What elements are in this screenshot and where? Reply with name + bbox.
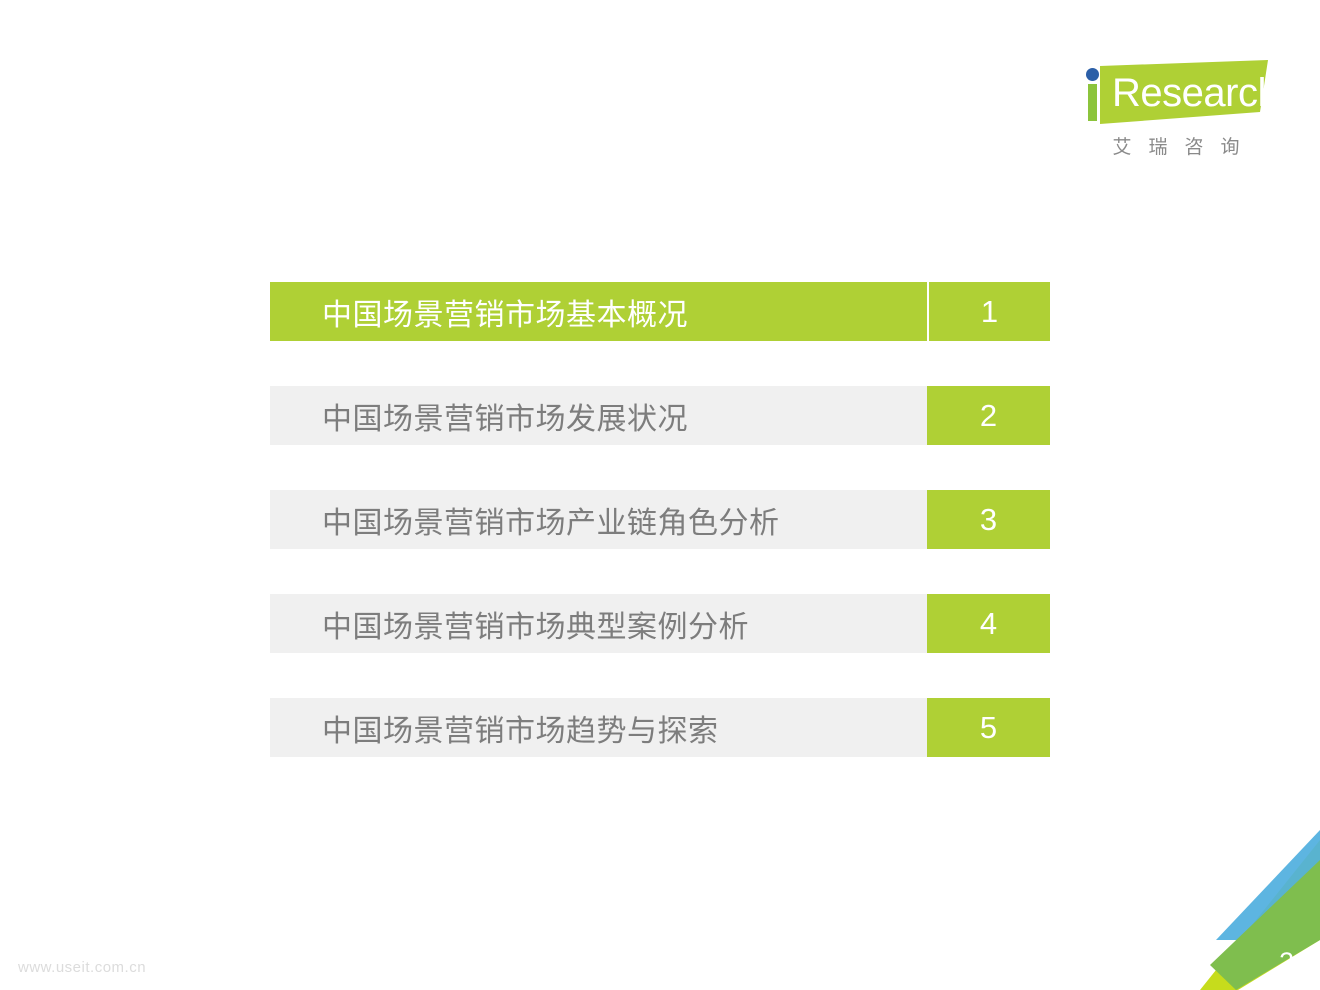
toc-row[interactable]: 中国场景营销市场发展状况 2 (270, 386, 1050, 445)
toc-item-label: 中国场景营销市场基本概况 (270, 282, 927, 341)
corner-decoration (1180, 830, 1320, 990)
toc-row[interactable]: 中国场景营销市场典型案例分析 4 (270, 594, 1050, 653)
logo-i-stem-icon (1088, 84, 1097, 121)
page-number: 2 (1279, 949, 1294, 976)
corner-overlap-triangle (1210, 860, 1320, 990)
toc-item-number: 1 (927, 282, 1050, 341)
toc-row[interactable]: 中国场景营销市场产业链角色分析 3 (270, 490, 1050, 549)
toc-item-number: 2 (927, 386, 1050, 445)
toc-item-number: 5 (927, 698, 1050, 757)
logo-mark: Research (1074, 58, 1270, 128)
toc-item-label: 中国场景营销市场产业链角色分析 (270, 490, 927, 549)
logo-subtitle: 艾瑞咨询 (1082, 132, 1270, 159)
toc-item-label: 中国场景营销市场发展状况 (270, 386, 927, 445)
toc-item-label: 中国场景营销市场典型案例分析 (270, 594, 927, 653)
slide: Research 艾瑞咨询 中国场景营销市场基本概况 1 中国场景营销市场发展状… (0, 0, 1320, 990)
toc-row[interactable]: 中国场景营销市场趋势与探索 5 (270, 698, 1050, 757)
toc-item-number: 3 (927, 490, 1050, 549)
logo-i-dot-icon (1086, 68, 1099, 81)
toc-item-label: 中国场景营销市场趋势与探索 (270, 698, 927, 757)
toc-item-number: 4 (927, 594, 1050, 653)
watermark-url: www.useit.com.cn (18, 959, 146, 976)
toc-row[interactable]: 中国场景营销市场基本概况 1 (270, 282, 1050, 341)
table-of-contents: 中国场景营销市场基本概况 1 中国场景营销市场发展状况 2 中国场景营销市场产业… (270, 282, 1050, 757)
logo-wordmark: Research (1112, 71, 1279, 115)
iresearch-logo: Research 艾瑞咨询 (1074, 58, 1270, 166)
